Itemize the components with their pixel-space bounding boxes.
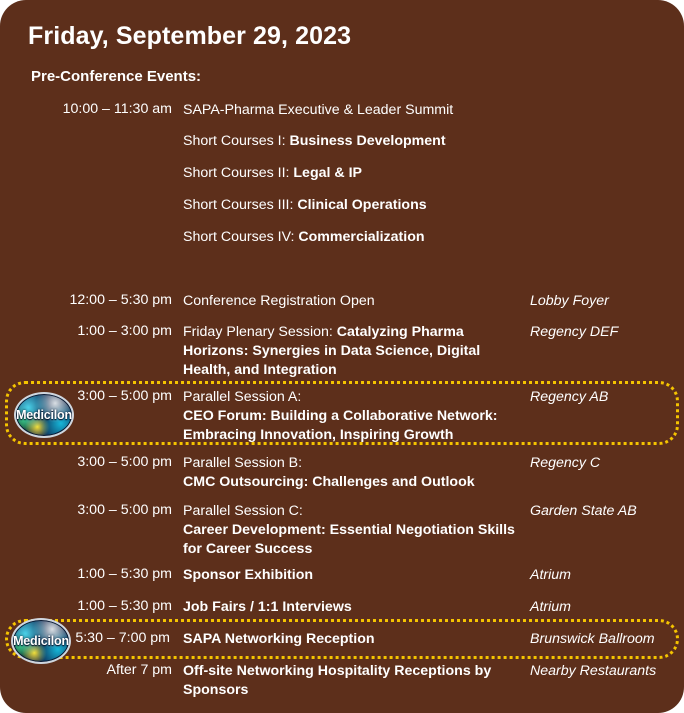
row-location: Brunswick Ballroom	[530, 630, 682, 649]
row-desc-bold: Sponsor Exhibition	[183, 567, 313, 583]
row-desc-bold: Job Fairs / 1:1 Interviews	[183, 599, 352, 615]
row-description: Sponsor Exhibition	[183, 566, 523, 585]
row-desc-plain: Parallel Session B:	[183, 455, 302, 471]
row-description: Short Courses II: Legal & IP	[183, 164, 528, 183]
row-description: SAPA-Pharma Executive & Leader Summit	[183, 101, 523, 120]
row-location: Atrium	[530, 566, 682, 585]
row-description: Conference Registration Open	[183, 292, 523, 311]
section-heading-pre-conference: Pre-Conference Events:	[31, 68, 201, 85]
row-desc-bold: Off-site Networking Hospitality Receptio…	[183, 663, 491, 698]
row-desc-plain: Friday Plenary Session:	[183, 324, 337, 340]
row-desc-bold: SAPA Networking Reception	[183, 631, 375, 647]
row-location: Atrium	[530, 598, 682, 617]
row-desc-bold: Legal & IP	[293, 165, 362, 181]
row-time: 1:00 – 5:30 pm	[0, 566, 172, 582]
row-location: Regency AB	[530, 388, 682, 407]
row-description: SAPA Networking Reception	[183, 630, 523, 649]
row-desc-bold: CEO Forum: Building a Collaborative Netw…	[183, 408, 498, 443]
medicilon-logo-label: Medicilon	[16, 408, 72, 422]
row-desc-bold: Career Development: Essential Negotiatio…	[183, 522, 515, 557]
row-time: 3:00 – 5:00 pm	[0, 502, 172, 518]
row-time: 5:30 – 7:00 pm	[32, 630, 170, 646]
row-desc-bold: Clinical Operations	[297, 197, 426, 213]
row-description: Short Courses III: Clinical Operations	[183, 196, 528, 215]
row-location: Lobby Foyer	[530, 292, 682, 311]
row-desc-plain: Parallel Session C:	[183, 503, 303, 519]
row-time: 10:00 – 11:30 am	[0, 101, 172, 117]
row-time: 1:00 – 5:30 pm	[0, 598, 172, 614]
row-description: Friday Plenary Session: Catalyzing Pharm…	[183, 323, 523, 380]
row-desc-plain: Short Courses IV:	[183, 229, 298, 245]
row-location: Regency C	[530, 454, 682, 473]
row-time: 12:00 – 5:30 pm	[0, 292, 172, 308]
row-desc-bold: CMC Outsourcing: Challenges and Outlook	[183, 474, 475, 490]
row-desc-bold: Business Development	[289, 133, 445, 149]
agenda-card: Friday, September 29, 2023 Pre-Conferenc…	[0, 0, 684, 713]
row-desc-plain: Short Courses II:	[183, 165, 293, 181]
row-desc-plain: Parallel Session A:	[183, 389, 301, 405]
row-description: Parallel Session C:Career Development: E…	[183, 502, 523, 559]
row-time: 3:00 – 5:00 pm	[0, 454, 172, 470]
row-desc-plain: Conference Registration Open	[183, 293, 375, 309]
row-desc-plain: Short Courses III:	[183, 197, 297, 213]
row-time: 3:00 – 5:00 pm	[0, 388, 172, 404]
row-location: Regency DEF	[530, 323, 682, 342]
page-title: Friday, September 29, 2023	[28, 22, 351, 51]
row-description: Parallel Session B:CMC Outsourcing: Chal…	[183, 454, 523, 492]
row-desc-plain: Short Courses I:	[183, 133, 289, 149]
row-desc-plain: SAPA-Pharma Executive & Leader Summit	[183, 102, 453, 118]
row-location: Nearby Restaurants	[530, 662, 682, 681]
row-description: Job Fairs / 1:1 Interviews	[183, 598, 523, 617]
row-desc-bold: Commercialization	[298, 229, 424, 245]
row-time: After 7 pm	[0, 662, 172, 678]
row-time: 1:00 – 3:00 pm	[0, 323, 172, 339]
row-description: Short Courses I: Business Development	[183, 132, 528, 151]
row-location: Garden State AB	[530, 502, 682, 521]
row-description: Off-site Networking Hospitality Receptio…	[183, 662, 523, 700]
row-description: Parallel Session A:CEO Forum: Building a…	[183, 388, 523, 445]
row-description: Short Courses IV: Commercialization	[183, 228, 528, 247]
